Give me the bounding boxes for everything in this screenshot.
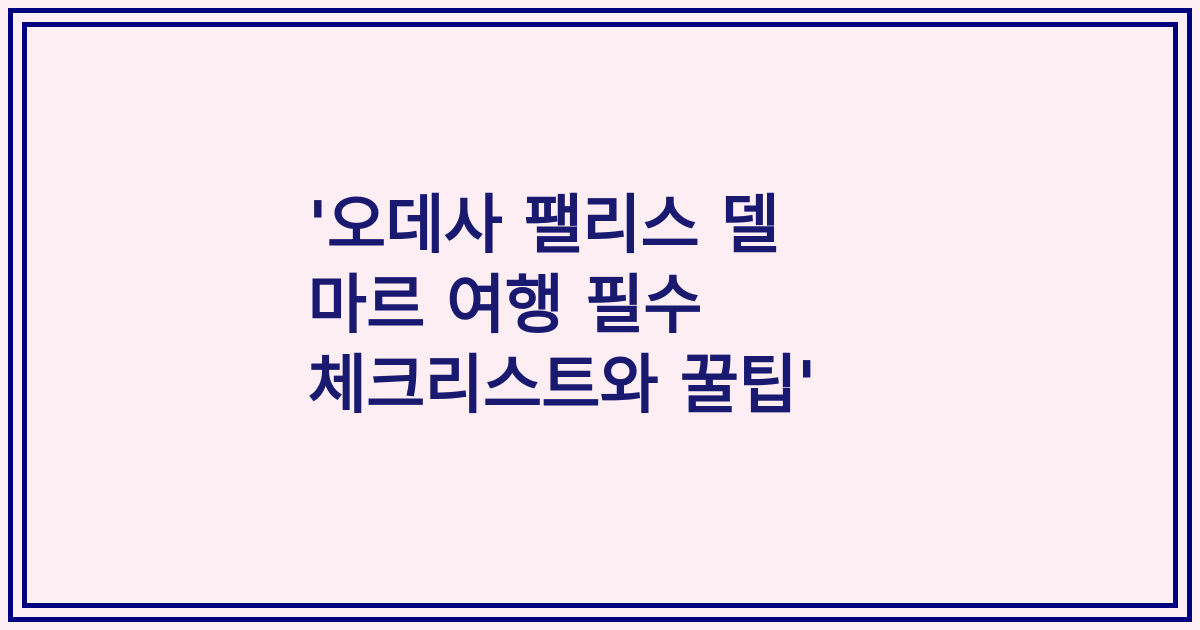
headline-line-1: '오데사 팰리스 델 [308, 186, 928, 266]
headline-line-3: 체크리스트와 꿀팁' [308, 346, 928, 426]
headline-line-2: 마르 여행 필수 [308, 266, 928, 346]
title-card: '오데사 팰리스 델 마르 여행 필수 체크리스트와 꿀팁' [0, 0, 1200, 630]
headline-block: '오데사 팰리스 델 마르 여행 필수 체크리스트와 꿀팁' [308, 186, 928, 426]
